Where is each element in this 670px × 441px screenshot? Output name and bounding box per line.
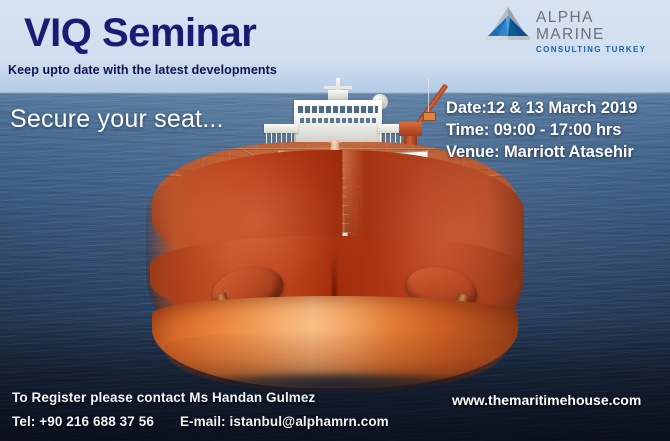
- page-subtitle: Keep upto date with the latest developme…: [8, 63, 277, 77]
- logo-tagline: CONSULTING TURKEY: [536, 44, 666, 55]
- footer-website-link[interactable]: www.themaritimehouse.com: [452, 392, 641, 408]
- bridge-windows-lower: [300, 118, 376, 123]
- pyramid-icon: [480, 6, 536, 44]
- ship-superstructure: [276, 78, 400, 150]
- page-title: VIQ Seminar: [24, 13, 256, 53]
- event-time: Time: 09:00 - 17:00 hrs: [446, 119, 637, 141]
- event-date: Date:12 & 13 March 2019: [446, 97, 637, 119]
- viq-seminar-poster: VIQ Seminar Keep upto date with the late…: [0, 0, 670, 441]
- deck-crane-wire: [428, 78, 429, 114]
- bridge-wing-port: [264, 124, 298, 133]
- footer-contact-row: Tel: +90 216 688 37 56 E-mail: istanbul@…: [12, 410, 389, 434]
- footer-register-line: To Register please contact Ms Handan Gul…: [12, 386, 389, 410]
- bridge-windows-upper: [298, 106, 378, 113]
- event-details-block: Date:12 & 13 March 2019 Time: 09:00 - 17…: [446, 97, 637, 163]
- deck-crane-cab: [399, 122, 422, 136]
- alpha-marine-logo[interactable]: ALPHA MARINE CONSULTING TURKEY: [480, 4, 666, 46]
- logo-wordmark: ALPHA MARINE CONSULTING TURKEY: [536, 9, 666, 55]
- call-to-action-text: Secure your seat...: [10, 105, 224, 134]
- logo-company-name: ALPHA MARINE: [536, 9, 666, 43]
- footer-telephone[interactable]: Tel: +90 216 688 37 56: [12, 410, 154, 434]
- deck-crane-hook-load: [423, 112, 436, 121]
- mast-yardarm: [324, 86, 352, 89]
- footer-contact-block: To Register please contact Ms Handan Gul…: [12, 386, 389, 434]
- footer-email[interactable]: E-mail: istanbul@alphamrn.com: [180, 410, 389, 434]
- event-venue: Venue: Marriott Atasehir: [446, 141, 637, 163]
